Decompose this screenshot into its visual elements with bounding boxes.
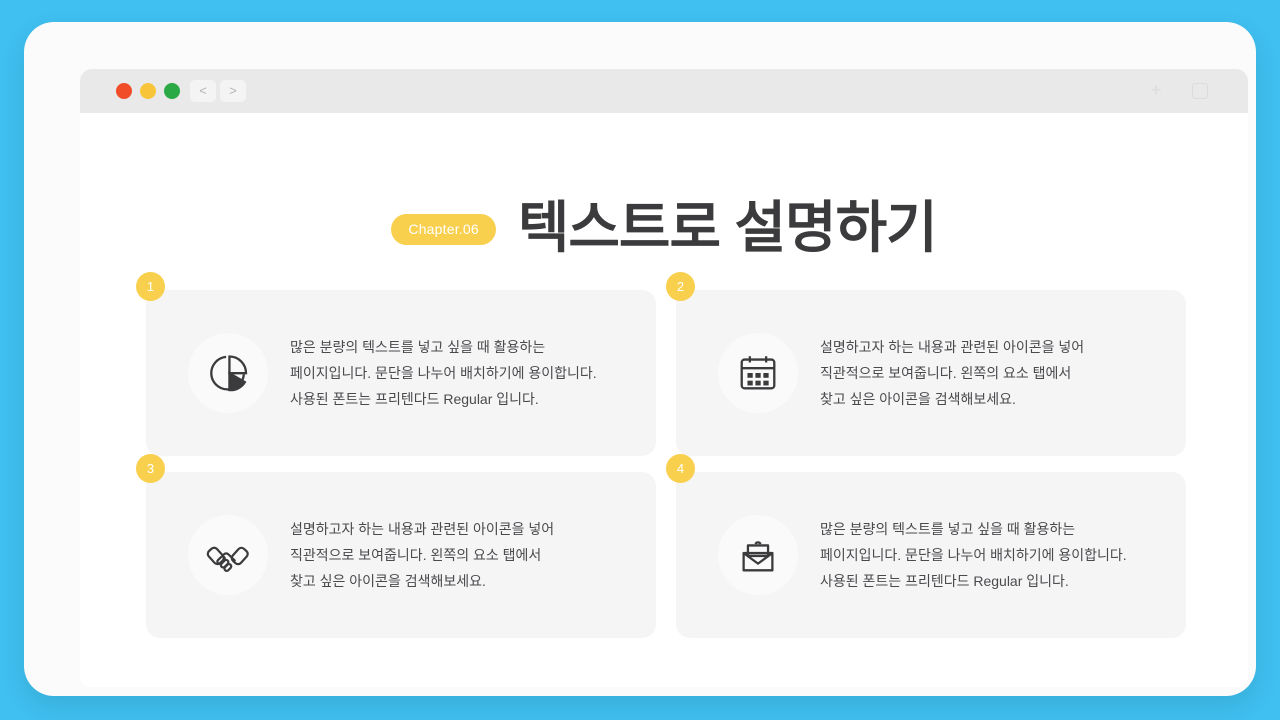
info-card[interactable]: 1 많은 분량의 텍스트를 넣고 싶을 때 활용하는 페이지입니다. 문단을 나… — [146, 290, 656, 456]
traffic-light-close-button[interactable] — [116, 83, 132, 99]
card-text-line: 사용된 폰트는 프리텐다드 Regular 입니다. — [820, 568, 1127, 594]
info-card[interactable]: 4 많은 분량의 텍스트를 넣고 싶을 때 활용하는 페이지입니다. 문단을 나… — [676, 472, 1186, 638]
card-text-line: 많은 분량의 텍스트를 넣고 싶을 때 활용하는 — [820, 516, 1127, 542]
browser-chrome-bar: < > + — [80, 69, 1248, 113]
card-text-line: 많은 분량의 텍스트를 넣고 싶을 때 활용하는 — [290, 334, 597, 360]
info-card[interactable]: 2 설명하고자 하는 — [676, 290, 1186, 456]
card-text-line: 사용된 폰트는 프리텐다드 Regular 입니다. — [290, 386, 597, 412]
slide-canvas: Chapter.06 텍스트로 설명하기 1 많은 분량의 텍스트를 넣고 싶을… — [80, 113, 1248, 687]
card-number-badge: 2 — [666, 272, 695, 301]
card-number-badge: 4 — [666, 454, 695, 483]
card-text-line: 직관적으로 보여줍니다. 왼쪽의 요소 탭에서 — [820, 360, 1084, 386]
window-square-icon[interactable] — [1192, 83, 1208, 99]
card-text: 많은 분량의 텍스트를 넣고 싶을 때 활용하는 페이지입니다. 문단을 나누어… — [290, 334, 617, 412]
info-cards-grid: 1 많은 분량의 텍스트를 넣고 싶을 때 활용하는 페이지입니다. 문단을 나… — [146, 290, 1186, 638]
chapter-badge: Chapter.06 — [391, 214, 496, 245]
nav-forward-button[interactable]: > — [220, 80, 246, 102]
envelope-icon — [718, 515, 798, 595]
card-text-line: 페이지입니다. 문단을 나누어 배치하기에 용이합니다. — [290, 360, 597, 386]
card-text-line: 페이지입니다. 문단을 나누어 배치하기에 용이합니다. — [820, 542, 1127, 568]
card-text-line: 찾고 싶은 아이콘을 검색해보세요. — [290, 568, 554, 594]
handshake-icon — [188, 515, 268, 595]
browser-window-frame: < > + Chapter.06 텍스트로 설명하기 1 — [24, 22, 1256, 696]
traffic-light-maximize-button[interactable] — [164, 83, 180, 99]
info-card[interactable]: 3 설명하고자 하는 내용과 관련된 아이콘을 넣어 직관적으로 보여줍니다. … — [146, 472, 656, 638]
card-text: 설명하고자 하는 내용과 관련된 아이콘을 넣어 직관적으로 보여줍니다. 왼쪽… — [290, 516, 574, 594]
card-number-badge: 3 — [136, 454, 165, 483]
card-text-line: 설명하고자 하는 내용과 관련된 아이콘을 넣어 — [820, 334, 1084, 360]
pie-chart-icon — [188, 333, 268, 413]
card-text-line: 직관적으로 보여줍니다. 왼쪽의 요소 탭에서 — [290, 542, 554, 568]
card-text-line: 찾고 싶은 아이콘을 검색해보세요. — [820, 386, 1084, 412]
card-number-badge: 1 — [136, 272, 165, 301]
card-text: 설명하고자 하는 내용과 관련된 아이콘을 넣어 직관적으로 보여줍니다. 왼쪽… — [820, 334, 1104, 412]
nav-back-button[interactable]: < — [190, 80, 216, 102]
calendar-icon — [718, 333, 798, 413]
add-icon[interactable]: + — [1146, 81, 1166, 101]
page-title: 텍스트로 설명하기 — [518, 183, 937, 264]
card-text: 많은 분량의 텍스트를 넣고 싶을 때 활용하는 페이지입니다. 문단을 나누어… — [820, 516, 1147, 594]
card-text-line: 설명하고자 하는 내용과 관련된 아이콘을 넣어 — [290, 516, 554, 542]
traffic-light-minimize-button[interactable] — [140, 83, 156, 99]
slide-header: Chapter.06 텍스트로 설명하기 — [80, 183, 1248, 264]
